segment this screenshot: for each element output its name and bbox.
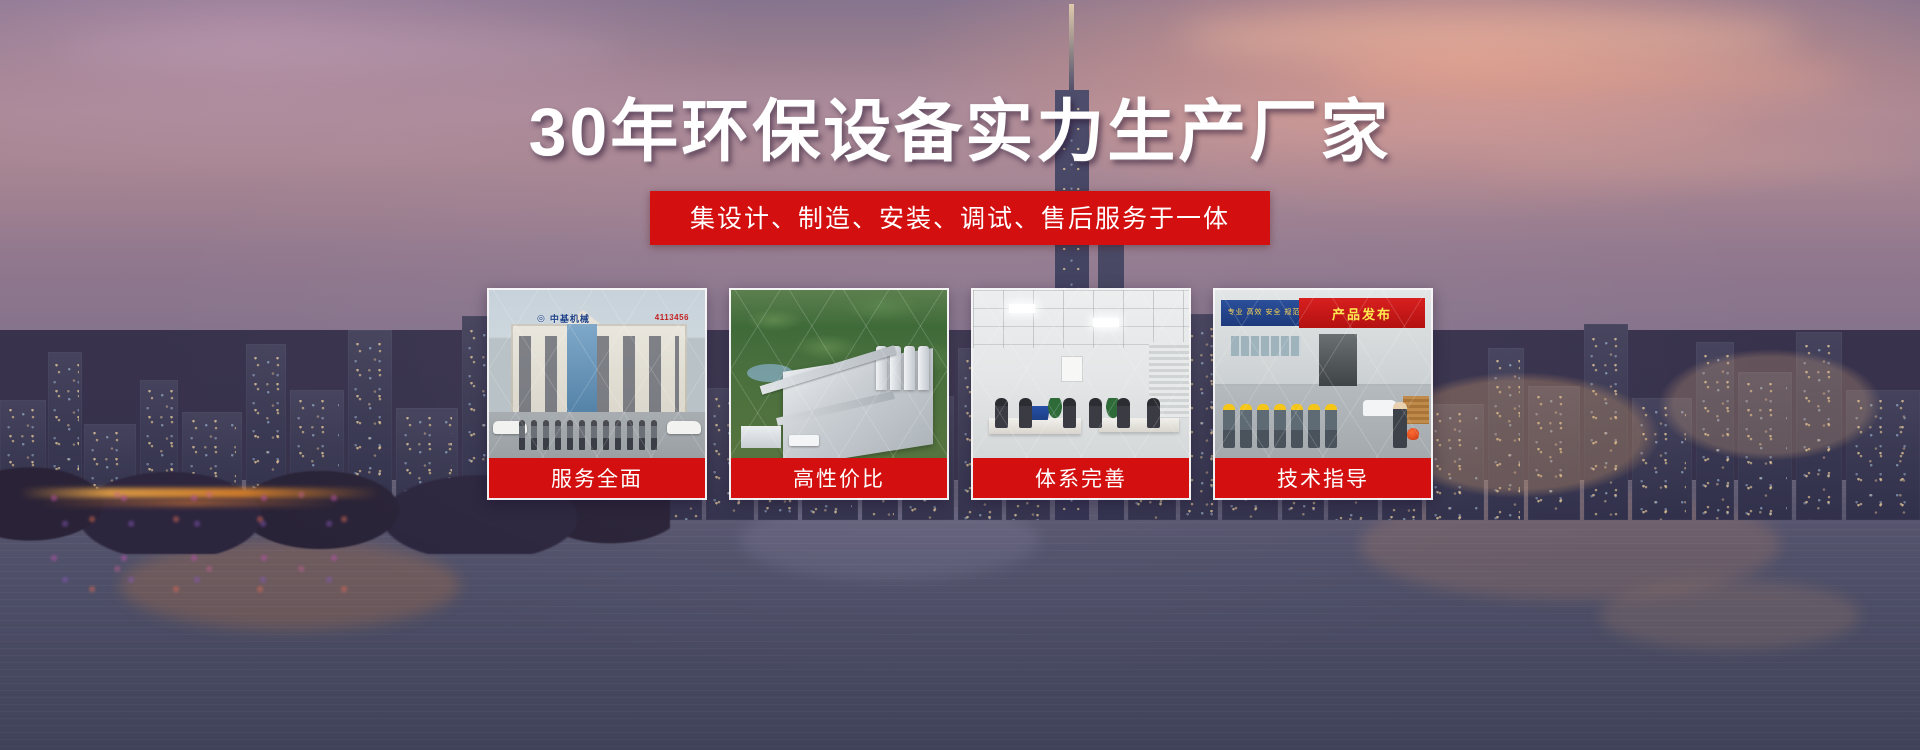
banner-content: 30年环保设备实力生产厂家 集设计、制造、安装、调试、售后服务于一体 ◎ 中基机… bbox=[0, 0, 1920, 750]
seated-person bbox=[1063, 398, 1076, 428]
staff-lineup bbox=[519, 420, 657, 450]
seated-person bbox=[1117, 398, 1130, 428]
safety-helmet-icon bbox=[1407, 428, 1419, 440]
feature-card[interactable]: 高性价比 bbox=[729, 288, 949, 500]
meeting-area bbox=[989, 390, 1179, 444]
ceiling-light-panel bbox=[1093, 318, 1119, 327]
card-photo-factory-yard: 专业 高效 安全 规范 产品发布 bbox=[1215, 290, 1431, 458]
factory-window bbox=[1231, 336, 1301, 356]
card-caption: 技术指导 bbox=[1215, 458, 1431, 498]
glass-atrium bbox=[567, 324, 597, 426]
card-caption: 服务全面 bbox=[489, 458, 705, 498]
feature-card[interactable]: 专业 高效 安全 规范 产品发布 技术指导 bbox=[1213, 288, 1433, 500]
parked-car bbox=[667, 421, 701, 434]
card-caption: 体系完善 bbox=[973, 458, 1189, 498]
building-sign: ◎ 中基机械 bbox=[537, 312, 590, 325]
delivery-truck bbox=[789, 435, 819, 446]
ceiling-light-panel bbox=[1009, 304, 1035, 313]
building-phone-text: 4113456 bbox=[655, 313, 689, 322]
factory-door bbox=[1319, 334, 1357, 386]
card-photo-aerial-plant bbox=[731, 290, 947, 458]
seated-person bbox=[1089, 398, 1102, 428]
seated-person bbox=[1019, 398, 1032, 428]
hero-banner: 30年环保设备实力生产厂家 集设计、制造、安装、调试、售后服务于一体 ◎ 中基机… bbox=[0, 0, 1920, 750]
wall-poster bbox=[1061, 356, 1083, 382]
desk bbox=[1099, 418, 1179, 432]
feature-card[interactable]: ◎ 中基机械 4113456 服务全面 bbox=[487, 288, 707, 500]
banner-subtitle-badge: 集设计、制造、安装、调试、售后服务于一体 bbox=[650, 191, 1270, 245]
white-van bbox=[1363, 400, 1397, 416]
card-caption: 高性价比 bbox=[731, 458, 947, 498]
red-product-sign: 产品发布 bbox=[1299, 298, 1425, 328]
card-photo-office-building: ◎ 中基机械 4113456 bbox=[489, 290, 705, 458]
building-facade bbox=[511, 324, 687, 426]
feature-card[interactable]: 体系完善 bbox=[971, 288, 1191, 500]
card-photo-office-interior bbox=[973, 290, 1189, 458]
ceiling-grid bbox=[973, 290, 1189, 348]
seated-person bbox=[995, 398, 1008, 428]
company-logo-icon: ◎ bbox=[537, 313, 546, 324]
seated-person bbox=[1147, 398, 1160, 428]
building-sign-text: 中基机械 bbox=[550, 312, 590, 325]
feature-card-row: ◎ 中基机械 4113456 服务全面 bbox=[487, 288, 1433, 500]
worker-crew bbox=[1223, 404, 1337, 448]
banner-headline: 30年环保设备实力生产厂家 bbox=[529, 98, 1392, 166]
warehouse-shed bbox=[741, 426, 781, 448]
supervisor-person bbox=[1393, 402, 1407, 448]
blue-slogan-banner: 专业 高效 安全 规范 bbox=[1221, 300, 1307, 326]
potted-plant bbox=[1047, 398, 1063, 420]
